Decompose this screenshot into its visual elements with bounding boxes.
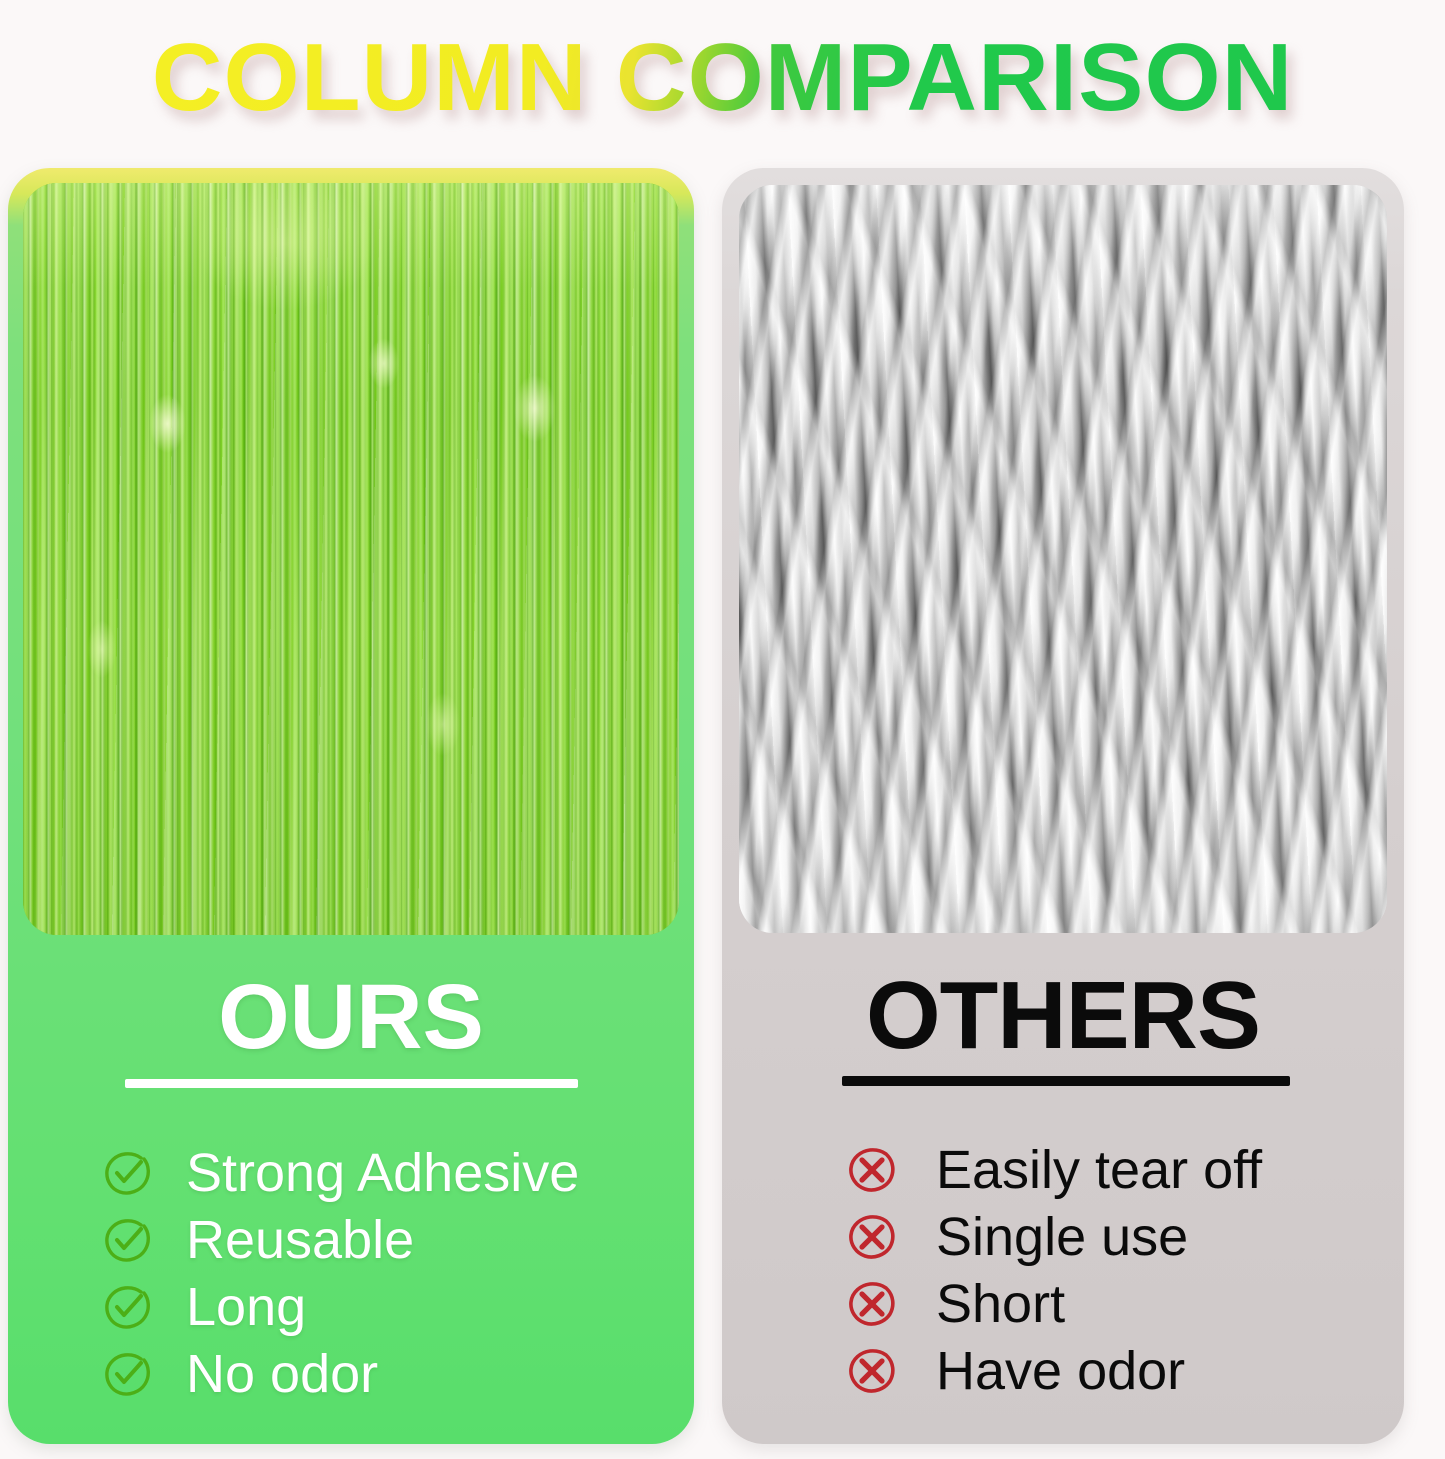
feature-label: Single use [936,1210,1188,1264]
panel-divider-others [842,1076,1290,1086]
feature-list-ours: Strong Adhesive Reusable [100,1139,670,1407]
feature-label: Strong Adhesive [186,1146,579,1200]
panel-divider-ours [125,1079,578,1088]
panel-title-others: OTHERS [722,968,1404,1064]
list-item: No odor [100,1340,670,1407]
list-item: Have odor [844,1337,1404,1404]
page-header: COLUMN COMPARISON [0,0,1445,155]
list-item: Single use [844,1203,1404,1270]
cross-circle-icon [844,1142,900,1198]
comparison-panel-ours: OURS Strong Adhesive [8,168,694,1444]
green-foil-fringe-image [23,183,679,935]
panel-title-ours: OURS [8,971,694,1063]
feature-label: Easily tear off [936,1143,1262,1197]
list-item: Strong Adhesive [100,1139,670,1206]
check-circle-icon [100,1346,156,1402]
list-item: Reusable [100,1206,670,1273]
cross-circle-icon [844,1343,900,1399]
feature-label: No odor [186,1347,378,1401]
list-item: Short [844,1270,1404,1337]
feature-list-others: Easily tear off Single use [844,1136,1404,1404]
check-circle-icon [100,1145,156,1201]
cross-circle-icon [844,1209,900,1265]
feature-label: Short [936,1277,1065,1331]
list-item: Long [100,1273,670,1340]
page-title: COLUMN COMPARISON [152,30,1294,126]
list-item: Easily tear off [844,1136,1404,1203]
feature-label: Have odor [936,1344,1185,1398]
product-photo-ours [23,183,679,935]
check-circle-icon [100,1279,156,1335]
feature-label: Reusable [186,1213,414,1267]
product-photo-others [739,185,1387,933]
feature-label: Long [186,1280,306,1334]
silver-foil-fringe-image [739,185,1387,933]
check-circle-icon [100,1212,156,1268]
cross-circle-icon [844,1276,900,1332]
comparison-panel-others: OTHERS Easily tear off [722,168,1404,1444]
